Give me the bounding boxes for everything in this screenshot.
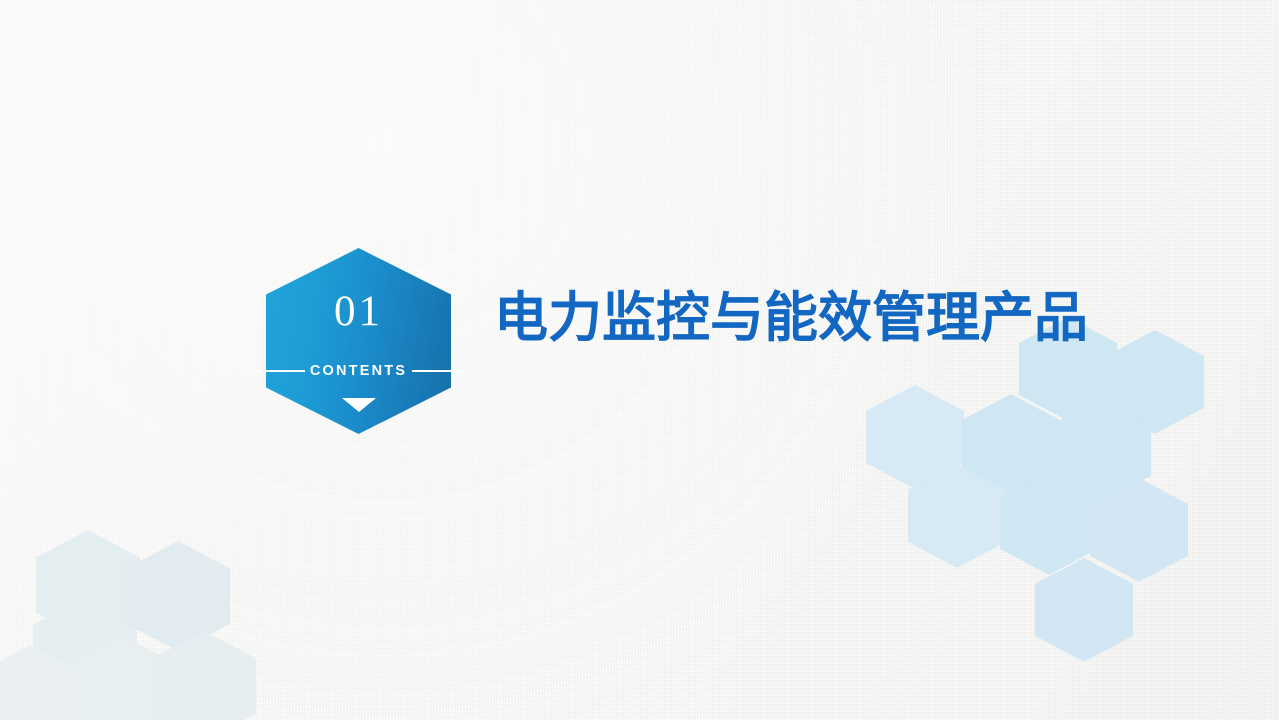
hexagon-decoration <box>866 385 964 489</box>
badge-content: 01 CONTENTS <box>266 248 451 434</box>
hexagon-decoration <box>1106 330 1204 434</box>
hexagon-decoration <box>152 631 256 720</box>
section-number: 01 <box>266 290 451 333</box>
hexagon-decoration <box>68 634 172 720</box>
hexagon-decoration <box>908 464 1006 568</box>
hexagon-decoration <box>1000 471 1098 575</box>
triangle-down-icon <box>342 398 376 412</box>
rule-right <box>412 370 463 372</box>
hexagon-decoration <box>0 645 82 720</box>
hexagon-decoration <box>36 530 140 640</box>
rule-left <box>254 370 305 372</box>
page-title: 电力监控与能效管理产品 <box>494 290 1088 347</box>
contents-label: CONTENTS <box>305 363 412 379</box>
hexagon-decoration <box>126 541 230 651</box>
hex-cluster-bottom-left <box>0 0 1279 720</box>
hexagon-decoration <box>1035 558 1133 662</box>
section-number-badge: 01 CONTENTS <box>266 248 451 434</box>
hexagon-decoration <box>962 394 1060 498</box>
hexagon-decoration <box>33 597 137 707</box>
hex-cluster-bottom-right <box>0 0 1279 720</box>
slide-canvas: 01 CONTENTS 电力监控与能效管理产品 <box>0 0 1279 720</box>
contents-row: CONTENTS <box>254 361 463 381</box>
hexagon-decoration <box>1090 478 1188 582</box>
hexagon-decoration <box>1053 398 1151 502</box>
